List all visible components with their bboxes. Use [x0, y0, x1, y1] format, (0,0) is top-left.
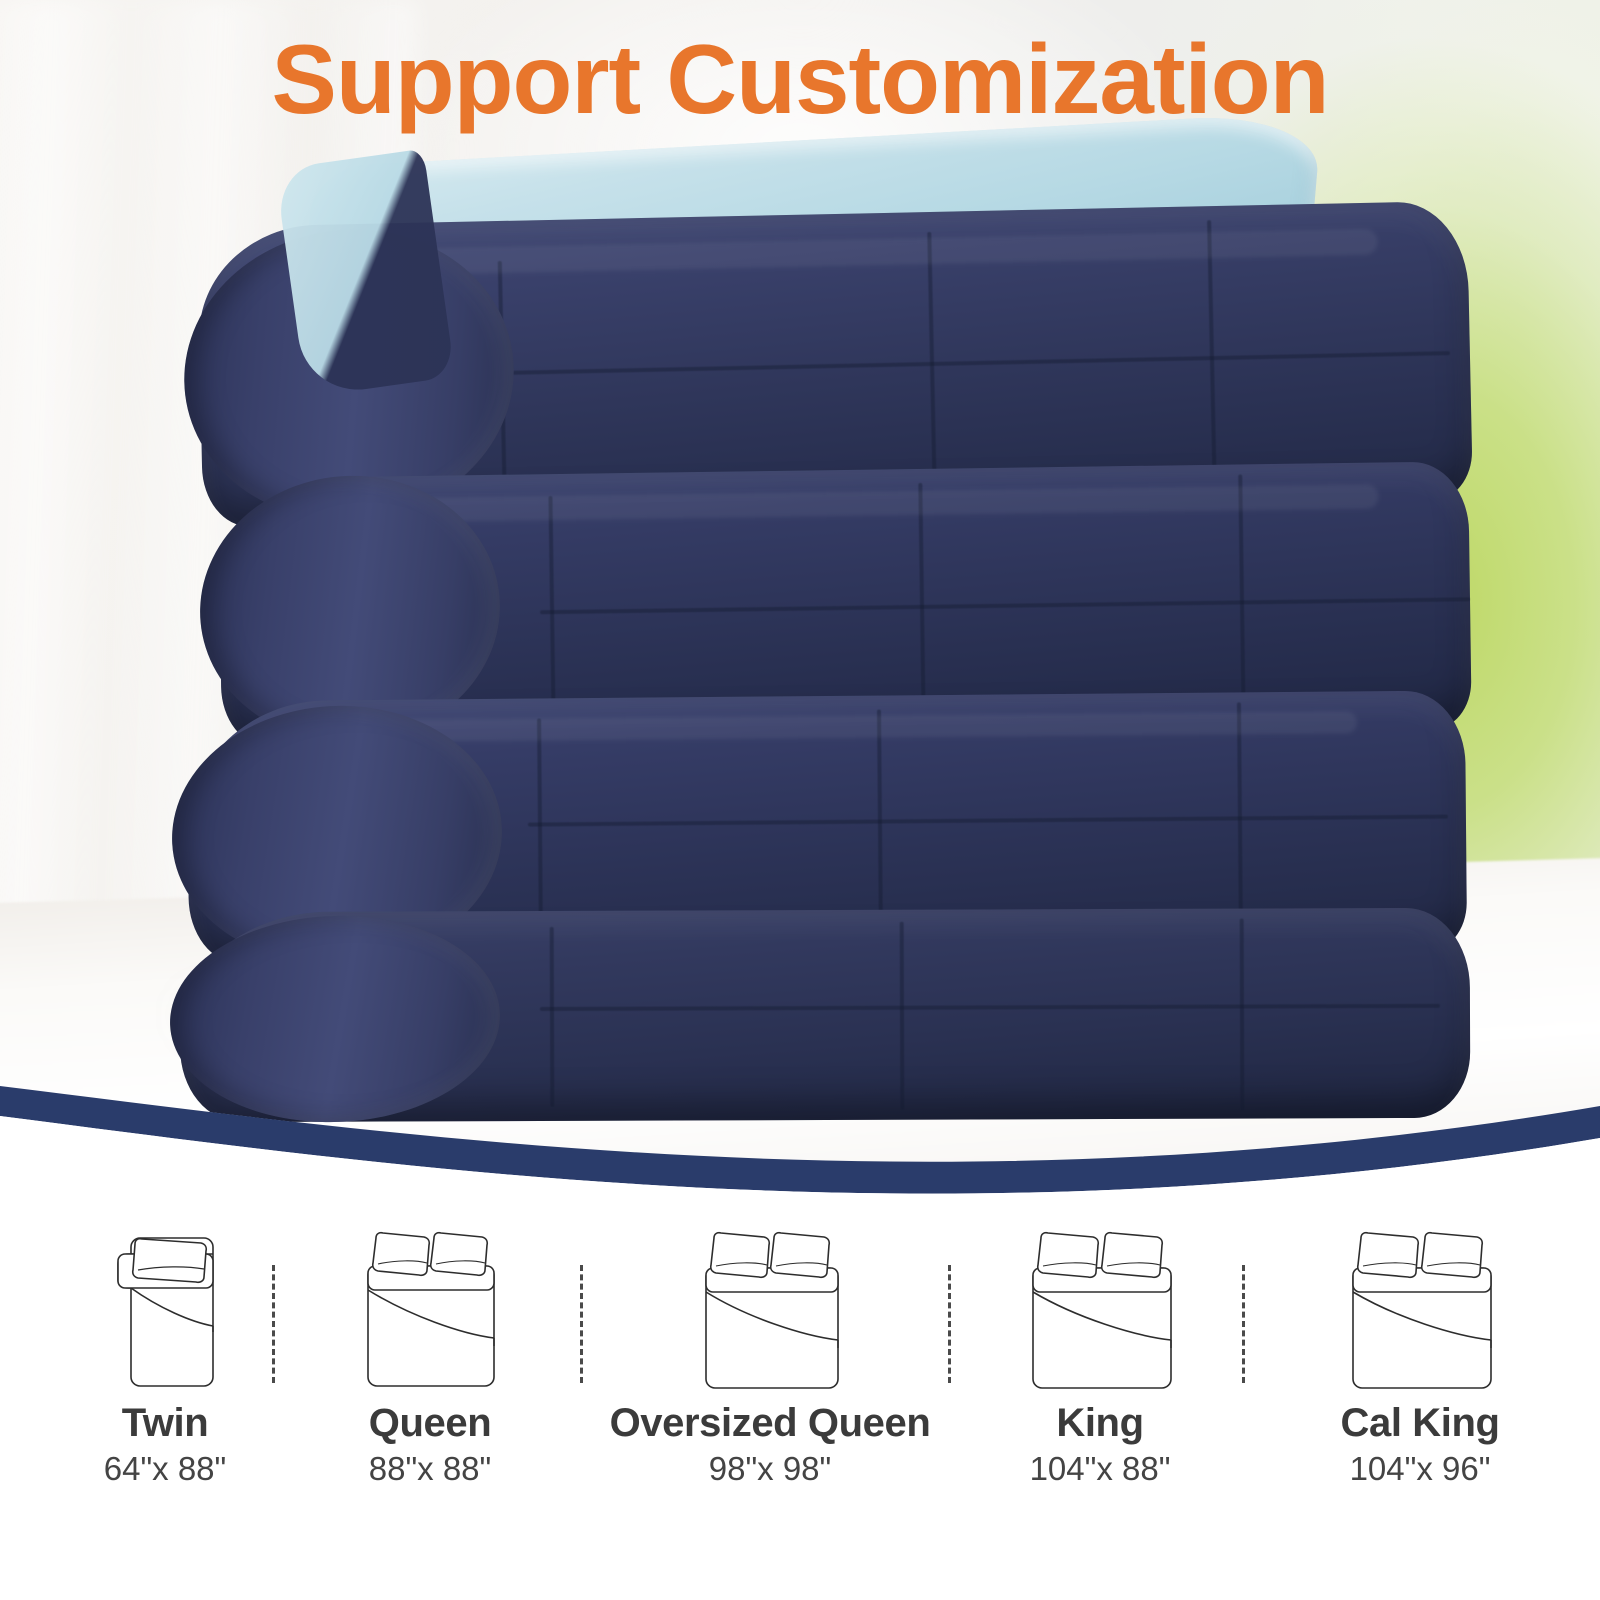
size-option-queen[interactable]: Queen 88"x 88": [295, 1215, 565, 1488]
product-photo: [0, 0, 1600, 1180]
bed-oversized-queen-icon: [600, 1215, 940, 1390]
size-separator-2: [580, 1265, 583, 1383]
size-name: Queen: [295, 1402, 565, 1444]
size-name: King: [965, 1402, 1235, 1444]
folded-comforter-stack: [170, 140, 1480, 1060]
bed-queen-icon: [295, 1215, 565, 1390]
size-option-king[interactable]: King 104"x 88": [965, 1215, 1235, 1488]
marketing-image: Support Customization: [0, 0, 1600, 1600]
size-separator-4: [1242, 1265, 1245, 1383]
size-dimensions: 104"x 96": [1270, 1450, 1570, 1488]
size-chart: Twin 64"x 88": [0, 1215, 1600, 1600]
bed-cal-king-icon: [1270, 1215, 1570, 1390]
size-name: Twin: [30, 1402, 300, 1444]
bed-king-icon: [965, 1215, 1235, 1390]
page-title: Support Customization: [0, 26, 1600, 134]
size-dimensions: 64"x 88": [30, 1450, 300, 1488]
bed-twin-icon: [30, 1215, 300, 1390]
size-option-twin[interactable]: Twin 64"x 88": [30, 1215, 300, 1488]
size-dimensions: 98"x 98": [600, 1450, 940, 1488]
size-separator-1: [272, 1265, 275, 1383]
size-option-oversized-queen[interactable]: Oversized Queen 98"x 98": [600, 1215, 940, 1488]
size-dimensions: 88"x 88": [295, 1450, 565, 1488]
size-separator-3: [948, 1265, 951, 1383]
size-option-cal-king[interactable]: Cal King 104"x 96": [1270, 1215, 1570, 1488]
size-name: Oversized Queen: [600, 1402, 940, 1444]
size-dimensions: 104"x 88": [965, 1450, 1235, 1488]
size-name: Cal King: [1270, 1402, 1570, 1444]
size-chart-row: Twin 64"x 88": [0, 1215, 1600, 1600]
